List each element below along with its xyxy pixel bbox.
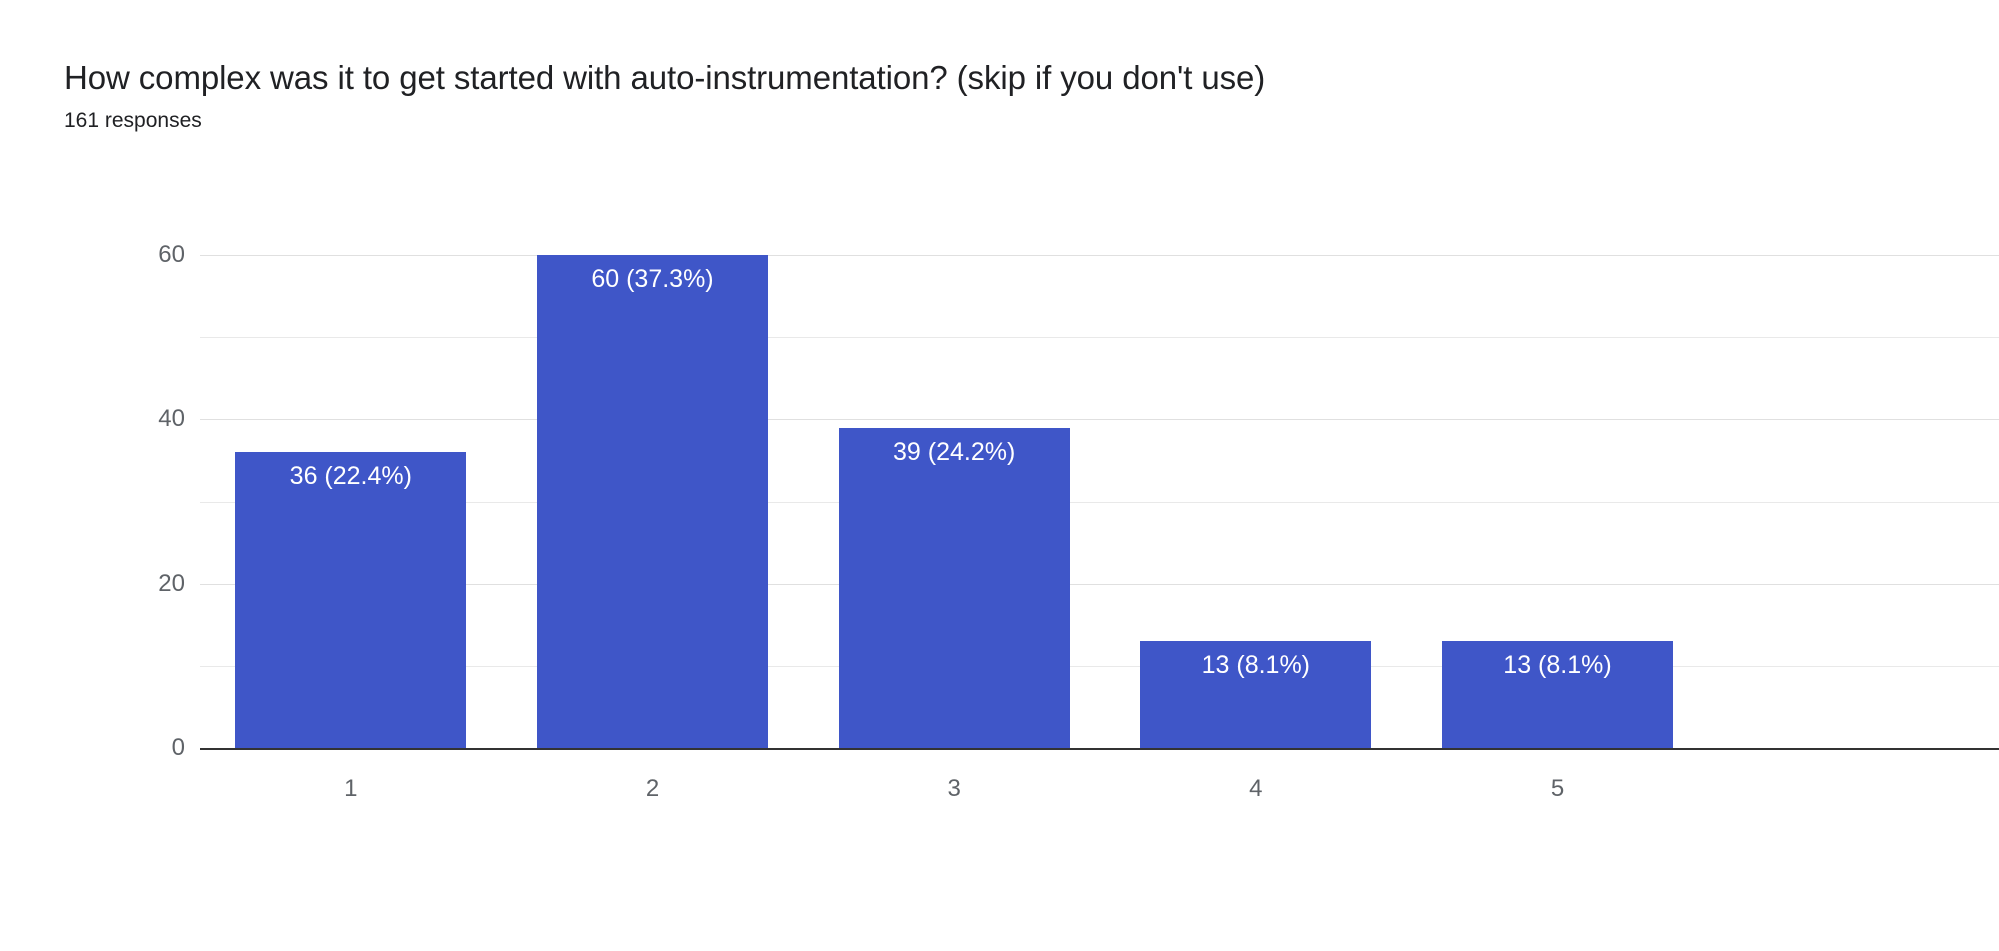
bar[interactable]: 60 (37.3%) xyxy=(537,255,768,748)
plot-area: 36 (22.4%)60 (37.3%)39 (24.2%)13 (8.1%)1… xyxy=(200,255,1999,748)
bar-value-label: 13 (8.1%) xyxy=(1442,650,1673,680)
bar-value-label: 60 (37.3%) xyxy=(537,264,768,294)
x-axis-line xyxy=(200,748,1999,750)
x-axis-tick-label: 4 xyxy=(1249,775,1262,803)
bar-chart: 0204060 36 (22.4%)60 (37.3%)39 (24.2%)13… xyxy=(0,0,1999,951)
y-axis-tick-label: 40 xyxy=(65,407,185,431)
gridline-minor xyxy=(200,666,1999,667)
x-axis-tick-label: 5 xyxy=(1551,775,1564,803)
gridline-minor xyxy=(200,502,1999,503)
bar-value-label: 13 (8.1%) xyxy=(1140,650,1371,680)
bar[interactable]: 13 (8.1%) xyxy=(1140,641,1371,748)
y-axis-tick-label: 60 xyxy=(65,243,185,267)
x-axis-tick-label: 1 xyxy=(344,775,357,803)
bar[interactable]: 39 (24.2%) xyxy=(839,428,1070,748)
y-axis-tick-label: 20 xyxy=(65,572,185,596)
bar-value-label: 39 (24.2%) xyxy=(839,437,1070,467)
gridline-minor xyxy=(200,337,1999,338)
x-axis-tick-label: 3 xyxy=(947,775,960,803)
bar-value-label: 36 (22.4%) xyxy=(235,461,466,491)
bar[interactable]: 13 (8.1%) xyxy=(1442,641,1673,748)
survey-response-chart-card: How complex was it to get started with a… xyxy=(0,0,1999,951)
y-axis: 0204060 xyxy=(60,255,185,748)
y-axis-tick-label: 0 xyxy=(65,736,185,760)
x-axis-tick-label: 2 xyxy=(646,775,659,803)
gridline-major xyxy=(200,255,1999,256)
gridline-major xyxy=(200,419,1999,420)
gridline-major xyxy=(200,584,1999,585)
bar[interactable]: 36 (22.4%) xyxy=(235,452,466,748)
